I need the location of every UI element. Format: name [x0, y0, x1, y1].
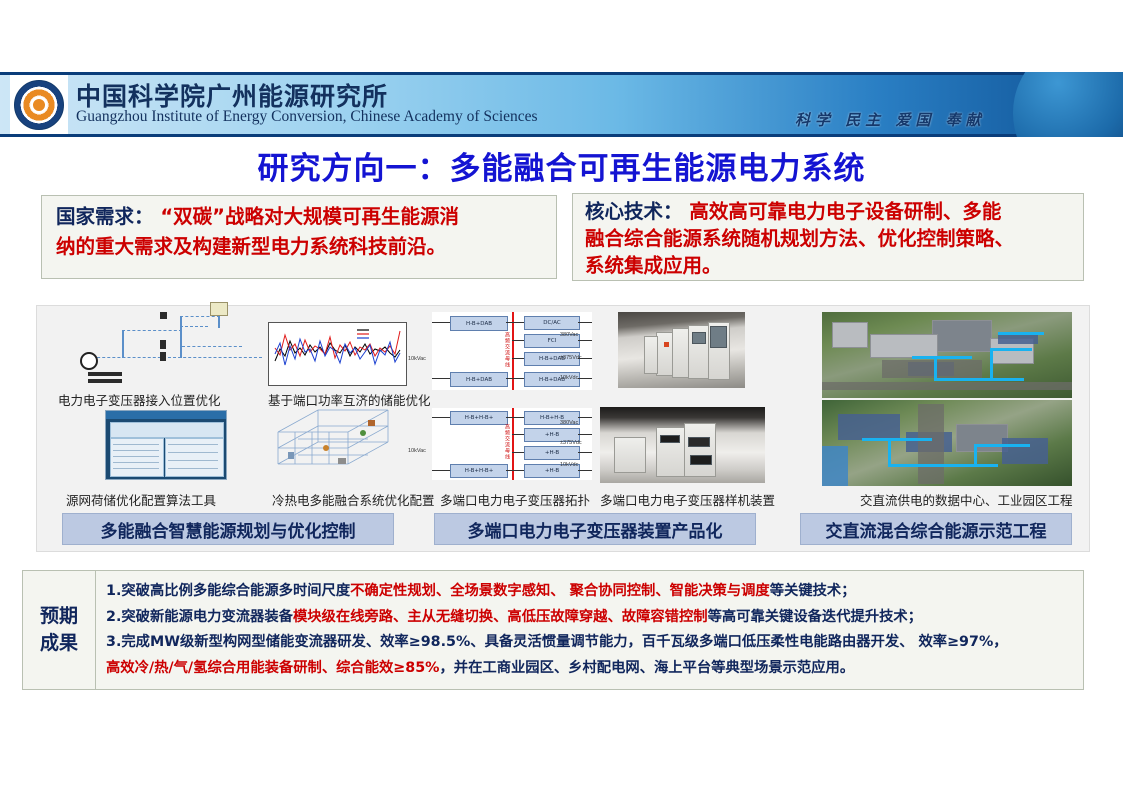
expected-outcome-label: 预期 成果	[23, 571, 96, 689]
legend-swatch	[88, 372, 122, 376]
theme-bar-1: 多能融合智慧能源规划与优化控制	[62, 513, 394, 545]
need-line-2: 纳的重大需求及构建新型电力系统科技前沿。	[56, 232, 546, 262]
schematic-node	[160, 352, 166, 361]
chart-svg	[269, 323, 404, 383]
demonstration-project-photo-2	[822, 400, 1072, 486]
institute-motto: 科学 民主 爱国 奉献	[795, 109, 986, 130]
banner-top-rule	[0, 72, 1123, 75]
expected-outcome-box: 预期 成果 1.突破高比例多能综合能源多时间尺度不确定性规划、全场景数字感知、 …	[22, 570, 1084, 690]
bd-box-dcac: DC/AC	[524, 316, 580, 330]
software-toolbar	[110, 422, 224, 438]
outcome-3-a: 3.完成MW级新型构网型储能变流器研发、效率≥98.5%、具备灵活惯量调节能力，…	[106, 634, 1008, 650]
figure-caption-2: 基于端口功率互济的储能优化	[268, 390, 431, 409]
software-titlebar	[106, 411, 226, 419]
outcome-line-2: 2.突破新能源电力变流器装备模块级在线旁路、主从无缝切换、高低压故障穿越、故障容…	[106, 605, 1077, 631]
expected-outcome-content: 1.突破高比例多能综合能源多时间尺度不确定性规划、全场景数字感知、 聚合协同控制…	[96, 571, 1083, 689]
outcome-line-3: 3.完成MW级新型构网型储能变流器研发、效率≥98.5%、具备灵活惯量调节能力，…	[106, 630, 1077, 656]
multi-energy-mesh-figure	[268, 408, 418, 480]
outcome-2-c: 等高可靠关键设备迭代提升技术；	[708, 609, 922, 625]
figure-caption-7: 交直流供电的数据中心、工业园区工程	[860, 490, 1073, 509]
banner-bottom-rule	[0, 134, 1123, 137]
bd-box-hb-dab-left-1: H-B+DAB	[450, 316, 508, 331]
tech-text-1: 高效高可靠电力电子设备研制、多能	[689, 200, 1001, 223]
outcome-1-c: 等关键技术；	[770, 583, 856, 599]
bus-label: 高频交流母线	[504, 424, 511, 460]
pet-prototype-photo-1	[618, 312, 745, 388]
bd-output-label-380vac-top: 380Vac	[560, 332, 578, 338]
bd-box-left-2: H-B+H-B+	[450, 464, 508, 478]
core-technology-box: 核心技术： 高效高可靠电力电子设备研制、多能 融合综合能源系统随机规划方法、优化…	[572, 193, 1084, 281]
schematic-node	[160, 340, 166, 349]
outcome-1-b: 不确定性规划、全场景数字感知、 聚合协同控制、智能决策与调度	[350, 583, 770, 599]
outcome-line-1: 1.突破高比例多能综合能源多时间尺度不确定性规划、全场景数字感知、 聚合协同控制…	[106, 579, 1077, 605]
theme-bar-2: 多端口电力电子变压器装置产品化	[434, 513, 756, 545]
page-title: 研究方向一：多能融合可再生能源电力系统	[0, 143, 1123, 188]
bd-output-label-375vdc-top: ±375Vdc	[560, 355, 582, 361]
storage-optimization-chart	[268, 322, 407, 386]
legend-swatch	[88, 379, 122, 383]
outcome-label-line-1: 预期	[40, 603, 78, 630]
outcome-4-b: 高效冷/热/气/氢综合用能装备研制、综合能效≥85%	[106, 660, 440, 676]
figure-caption-3: 源网荷储优化配置算法工具	[66, 490, 216, 509]
need-text-1: “双碳”战略对大规模可再生能源消	[160, 205, 459, 228]
national-need-box: 国家需求： “双碳”战略对大规模可再生能源消 纳的重大需求及构建新型电力系统科技…	[41, 195, 557, 279]
bd-box-right-3: +H-B	[524, 446, 580, 460]
outcome-line-4: 高效冷/热/气/氢综合用能装备研制、综合能效≥85%，并在工商业园区、乡村配电网…	[106, 656, 1077, 682]
tech-label: 核心技术：	[585, 200, 683, 223]
pet-prototype-photo-2	[600, 407, 765, 483]
institute-name-en: Guangzhou Institute of Energy Conversion…	[76, 108, 538, 126]
outcome-2-a: 2.突破新能源电力变流器装备	[106, 609, 293, 625]
figure-caption-5: 多端口电力电子变压器拓扑	[440, 490, 590, 509]
figure-caption-4: 冷热电多能融合系统优化配置	[272, 490, 435, 509]
bd-box-left-1: H-B+H-B+	[450, 411, 508, 425]
bd-output-label-380vac-bottom: 380Vac	[560, 420, 578, 426]
logo-emblem-icon	[14, 80, 64, 130]
tech-line-3: 系统集成应用。	[585, 252, 1075, 279]
generator-symbol-icon	[80, 352, 98, 370]
bd-output-label-10kvdc-bottom: 10kVdc	[560, 462, 578, 468]
header-banner: ✦ ✦ 中国科学院广州能源研究所 Guangzhou Institute of …	[0, 72, 1123, 137]
bd-input-label-top: 10kVac	[408, 356, 426, 362]
need-label: 国家需求：	[56, 205, 154, 228]
figure-caption-6: 多端口电力电子变压器样机装置	[600, 490, 775, 509]
institute-logo	[10, 75, 68, 134]
outcome-2-b: 模块级在线旁路、主从无缝切换、高低压故障穿越、故障容错控制	[293, 609, 708, 625]
outcome-1-a: 1.突破高比例多能综合能源多时间尺度	[106, 583, 350, 599]
figure-caption-1: 电力电子变压器接入位置优化	[58, 390, 221, 409]
tech-line-1: 核心技术： 高效高可靠电力电子设备研制、多能	[585, 198, 1075, 225]
need-line-1: 国家需求： “双碳”战略对大规模可再生能源消	[56, 202, 546, 232]
tech-line-2: 融合综合能源系统随机规划方法、优化控制策略、	[585, 225, 1075, 252]
bd-output-label-375vdc-bottom: ±375Vdc	[560, 440, 582, 446]
outcome-label-line-2: 成果	[40, 630, 78, 657]
globe-graphic	[1013, 72, 1123, 137]
planning-software-screenshot	[105, 410, 227, 480]
schematic-node	[160, 312, 167, 319]
theme-bar-3: 交直流混合综合能源示范工程	[800, 513, 1072, 545]
bus-label: 高频交流母线	[504, 332, 511, 368]
mesh-svg	[268, 408, 418, 480]
bd-output-label-10kvdc-top: 10kVdc	[560, 375, 578, 381]
bd-box-hb-dab-left-2: H-B+DAB	[450, 372, 508, 387]
outcome-4-c: ，并在工商业园区、乡村配电网、海上平台等典型场景示范应用。	[440, 660, 855, 676]
demonstration-project-photo-1	[822, 312, 1072, 398]
